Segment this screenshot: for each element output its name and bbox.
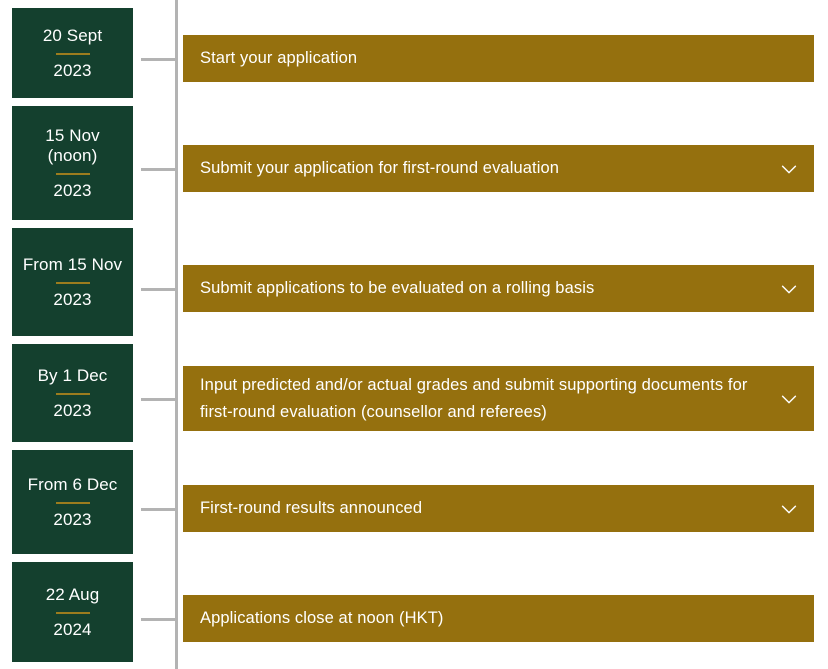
date-divider	[56, 282, 90, 284]
date-year: 2023	[53, 510, 91, 530]
date-divider	[56, 393, 90, 395]
date-divider	[56, 173, 90, 175]
date-card: From 6 Dec 2023	[12, 450, 133, 554]
date-year: 2023	[53, 181, 91, 201]
timeline-connector	[141, 508, 177, 511]
date-year: 2024	[53, 620, 91, 640]
chevron-down-icon[interactable]	[778, 278, 800, 300]
timeline-item-label: Input predicted and/or actual grades and…	[200, 372, 778, 426]
date-card: 22 Aug 2024	[12, 562, 133, 662]
timeline-item-bar[interactable]: Submit applications to be evaluated on a…	[183, 265, 814, 312]
timeline-connector	[141, 58, 177, 61]
timeline-item-bar[interactable]: First-round results announced	[183, 485, 814, 532]
timeline-connector	[141, 288, 177, 291]
date-day: By 1 Dec	[38, 366, 108, 386]
date-year: 2023	[53, 401, 91, 421]
chevron-down-icon[interactable]	[778, 158, 800, 180]
date-divider	[56, 502, 90, 504]
date-day: 20 Sept	[43, 26, 102, 46]
date-day: From 15 Nov	[23, 255, 122, 275]
date-year: 2023	[53, 61, 91, 81]
date-divider	[56, 53, 90, 55]
timeline-connector	[141, 618, 177, 621]
timeline-item-bar[interactable]: Input predicted and/or actual grades and…	[183, 366, 814, 431]
date-day: From 6 Dec	[28, 475, 118, 495]
date-year: 2023	[53, 290, 91, 310]
date-card: From 15 Nov 2023	[12, 228, 133, 336]
timeline-item-label: Submit applications to be evaluated on a…	[200, 275, 778, 302]
chevron-down-icon[interactable]	[778, 498, 800, 520]
timeline-item-bar[interactable]: Applications close at noon (HKT)	[183, 595, 814, 642]
timeline-item-label: Applications close at noon (HKT)	[200, 605, 778, 632]
timeline-item-label: Start your application	[200, 45, 778, 72]
date-divider	[56, 612, 90, 614]
timeline-spine	[175, 0, 178, 669]
timeline-item-bar[interactable]: Submit your application for first-round …	[183, 145, 814, 192]
date-day: 15 Nov (noon)	[45, 126, 99, 166]
date-day: 22 Aug	[46, 585, 100, 605]
chevron-down-icon[interactable]	[778, 388, 800, 410]
timeline-item-label: First-round results announced	[200, 495, 778, 522]
date-card: By 1 Dec 2023	[12, 344, 133, 442]
timeline-connector	[141, 398, 177, 401]
timeline-item-bar[interactable]: Start your application	[183, 35, 814, 82]
timeline-item-label: Submit your application for first-round …	[200, 155, 778, 182]
date-card: 20 Sept 2023	[12, 8, 133, 98]
date-card: 15 Nov (noon) 2023	[12, 106, 133, 220]
timeline-connector	[141, 168, 177, 171]
timeline-root: 20 Sept 2023 Start your application 15 N…	[0, 0, 828, 669]
